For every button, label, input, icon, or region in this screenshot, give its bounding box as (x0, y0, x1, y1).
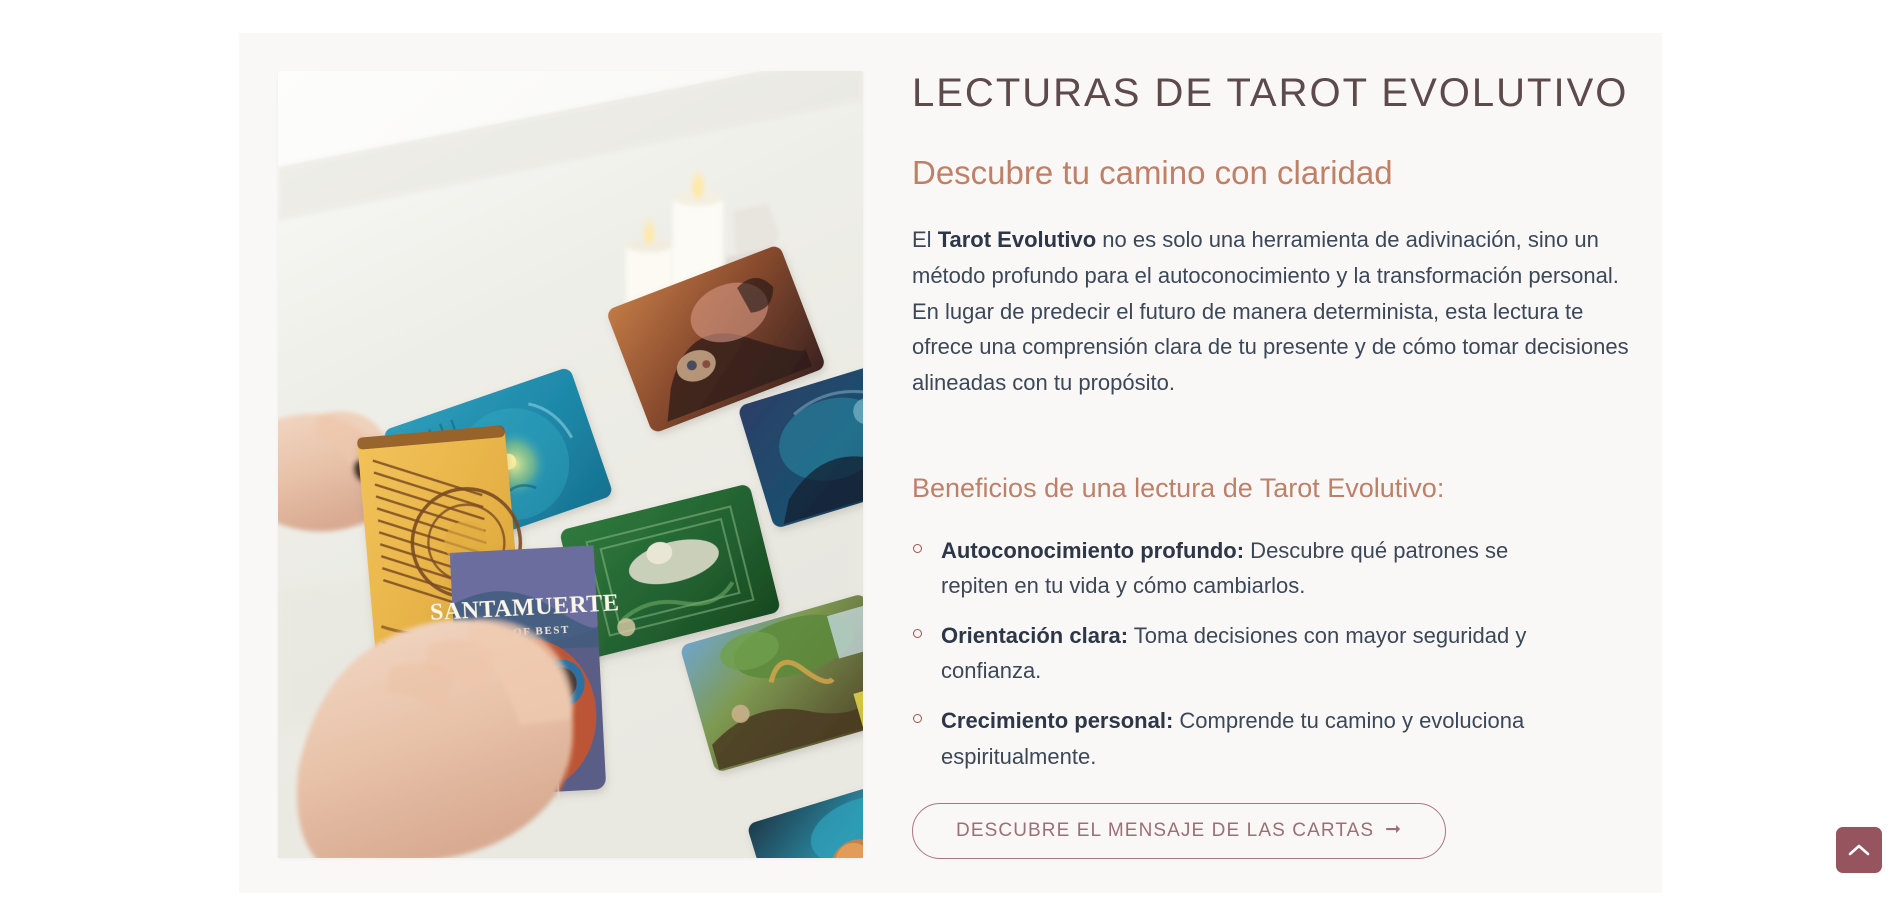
section-subtitle: Descubre tu camino con claridad (912, 152, 1632, 195)
intro-rest: no es solo una herramienta de adivinació… (912, 227, 1629, 395)
tarot-photo-illustration: SANTAMUERTE PRE OF BEST (278, 71, 863, 858)
cta-wrapper: DESCUBRE EL MENSAJE DE LAS CARTAS ➞ (912, 803, 1632, 859)
chevron-up-icon (1848, 843, 1870, 857)
benefit-lead: Orientación clara: (941, 623, 1128, 648)
list-item: Crecimiento personal: Comprende tu camin… (912, 703, 1581, 774)
circle-bullet-icon (913, 629, 922, 638)
benefit-lead: Autoconocimiento profundo: (941, 538, 1244, 563)
intro-paragraph: El Tarot Evolutivo no es solo una herram… (912, 222, 1632, 400)
intro-prefix: El (912, 227, 938, 252)
arrow-right-icon: ➞ (1385, 820, 1402, 839)
list-item: Orientación clara: Toma decisiones con m… (912, 618, 1581, 689)
intro-bold-term: Tarot Evolutivo (938, 227, 1097, 252)
benefits-list: Autoconocimiento profundo: Descubre qué … (912, 533, 1632, 775)
tarot-reading-photo: SANTAMUERTE PRE OF BEST (278, 71, 863, 858)
list-item: Autoconocimiento profundo: Descubre qué … (912, 533, 1581, 604)
media-column: SANTAMUERTE PRE OF BEST (278, 71, 863, 858)
circle-bullet-icon (913, 714, 922, 723)
cta-label: DESCUBRE EL MENSAJE DE LAS CARTAS (956, 821, 1374, 840)
descubre-mensaje-cartas-button[interactable]: DESCUBRE EL MENSAJE DE LAS CARTAS ➞ (912, 803, 1446, 859)
circle-bullet-icon (913, 544, 922, 553)
text-column: LECTURAS DE TAROT EVOLUTIVO Descubre tu … (912, 70, 1632, 859)
tarot-section-card: SANTAMUERTE PRE OF BEST (239, 33, 1662, 893)
benefit-lead: Crecimiento personal: (941, 708, 1173, 733)
page-title: LECTURAS DE TAROT EVOLUTIVO (912, 70, 1632, 116)
scroll-to-top-button[interactable] (1836, 827, 1882, 873)
benefits-heading: Beneficios de una lectura de Tarot Evolu… (912, 471, 1632, 506)
page-root: SANTAMUERTE PRE OF BEST (0, 0, 1893, 908)
